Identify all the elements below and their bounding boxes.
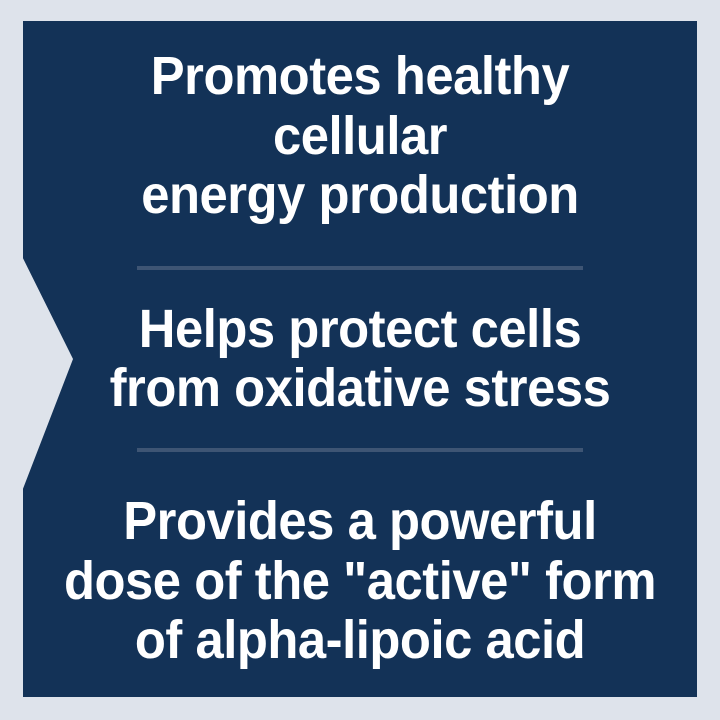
claim-oxidative-stress: Helps protect cells from oxidative stres…: [43, 300, 677, 419]
claim-divider-1: [137, 266, 583, 270]
claim-divider-2: [137, 448, 583, 452]
benefits-panel-graphic: Promotes healthy cellular energy product…: [0, 0, 720, 720]
claim-alpha-lipoic-acid: Provides a powerful dose of the "active"…: [43, 492, 677, 670]
claims-list: Promotes healthy cellular energy product…: [23, 21, 697, 697]
claim-energy: Promotes healthy cellular energy product…: [43, 47, 677, 225]
